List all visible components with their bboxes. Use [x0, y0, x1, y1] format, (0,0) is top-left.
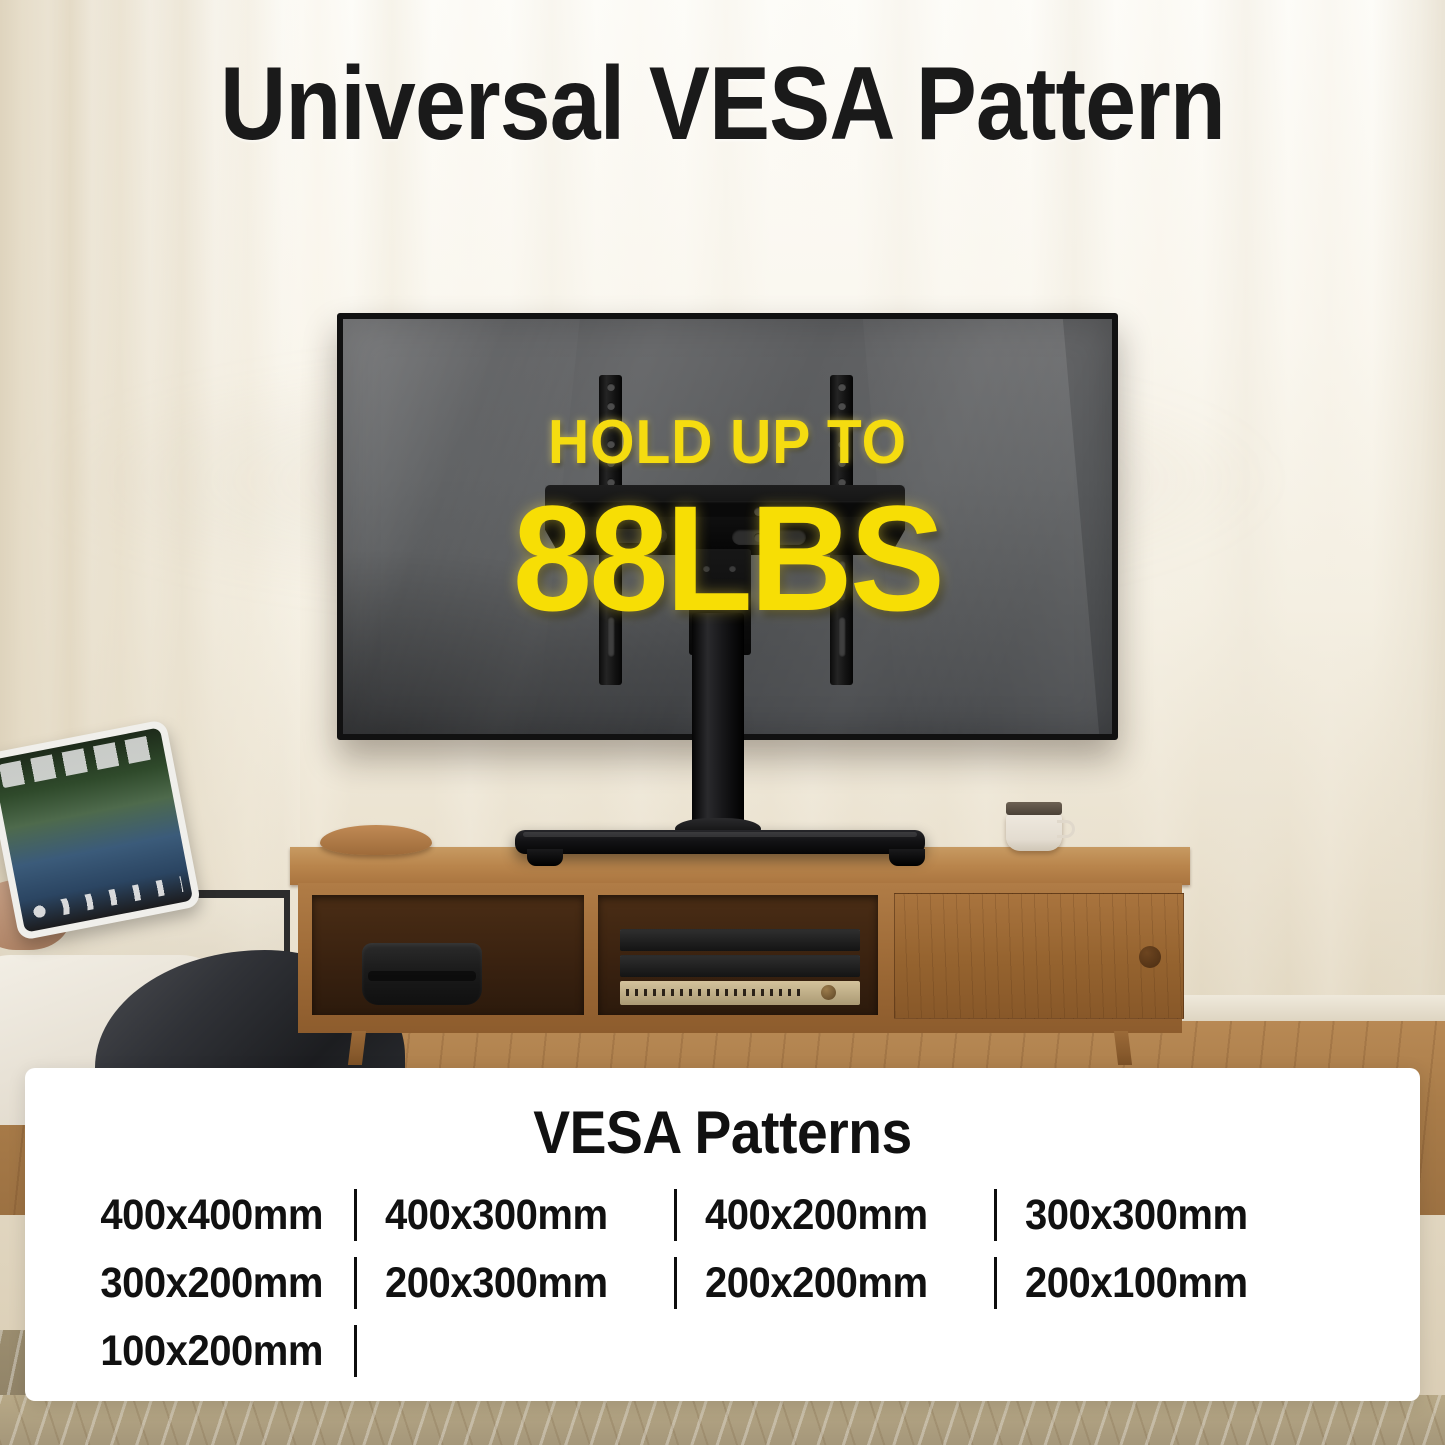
vesa-separator [994, 1189, 997, 1241]
cabinet-knob-icon [1139, 946, 1161, 968]
console-shelf-left [312, 895, 584, 1015]
vesa-pattern-cell: 100x200mm [65, 1327, 324, 1376]
console-shelf-right [598, 895, 878, 1015]
vesa-pattern-value: 100x200mm [100, 1327, 323, 1376]
vesa-separator [994, 1257, 997, 1309]
vesa-separator [354, 1257, 357, 1309]
hold-up-to-label: HOLD UP TO [368, 412, 1087, 474]
vesa-pattern-value: 400x300mm [385, 1191, 608, 1240]
vesa-separator [354, 1325, 357, 1377]
console-legs [290, 1031, 1190, 1065]
vesa-pattern-value: 200x300mm [385, 1259, 608, 1308]
speaker [362, 943, 482, 1005]
vesa-pattern-value: 400x400mm [100, 1191, 323, 1240]
vesa-separator [674, 1189, 677, 1241]
vesa-pattern-row: 400x400mm 400x300mm 400x200mm 300x300mm [65, 1181, 1380, 1249]
vesa-pattern-cell: 200x100mm [1025, 1259, 1284, 1308]
vesa-separator [674, 1257, 677, 1309]
vesa-pattern-value: 400x200mm [705, 1191, 928, 1240]
vesa-pattern-cell: 400x200mm [705, 1191, 964, 1240]
weight-capacity-label: 88LBS [357, 483, 1099, 633]
cabinet-door [894, 893, 1184, 1019]
vesa-pattern-value: 300x200mm [100, 1259, 323, 1308]
tablet-device [0, 719, 201, 941]
vesa-pattern-row: 300x200mm 200x300mm 200x200mm 200x100mm [65, 1249, 1380, 1317]
vesa-pattern-cell: 400x400mm [65, 1191, 324, 1240]
console-leg-right [1114, 1031, 1132, 1065]
page-title: Universal VESA Pattern [87, 52, 1359, 156]
vesa-pattern-cell: 400x300mm [385, 1191, 644, 1240]
stand-foot-left [527, 849, 563, 866]
stand-base-highlight [523, 832, 917, 837]
vesa-pattern-row: 100x200mm [65, 1317, 1380, 1385]
stand-pole [692, 613, 744, 840]
vesa-pattern-cell: 300x300mm [1025, 1191, 1284, 1240]
stand-foot-right [889, 849, 925, 866]
vesa-pattern-cell: 200x200mm [705, 1259, 964, 1308]
console-leg-left [348, 1031, 366, 1065]
vesa-pattern-cell: 300x200mm [65, 1259, 324, 1308]
av-receiver [620, 981, 860, 1005]
vesa-pattern-value: 200x100mm [1025, 1259, 1248, 1308]
av-knob [821, 985, 836, 1000]
area-rug [0, 1395, 1445, 1445]
tablet-screen [0, 727, 193, 932]
av-equipment-stack [620, 929, 860, 1005]
vesa-patterns-panel: VESA Patterns 400x400mm 400x300mm 400x20… [25, 1068, 1420, 1401]
tv-console [290, 847, 1190, 1062]
vesa-patterns-list: 400x400mm 400x300mm 400x200mm 300x300mm … [25, 1167, 1420, 1385]
vesa-pattern-value: 200x200mm [705, 1259, 928, 1308]
vesa-pattern-cell: 200x300mm [385, 1259, 644, 1308]
vesa-pattern-value: 300x300mm [1025, 1191, 1248, 1240]
vesa-separator [354, 1189, 357, 1241]
av-unit-top [620, 929, 860, 951]
console-body [298, 883, 1182, 1033]
av-unit-mid [620, 955, 860, 977]
vesa-patterns-title: VESA Patterns [81, 1068, 1364, 1167]
